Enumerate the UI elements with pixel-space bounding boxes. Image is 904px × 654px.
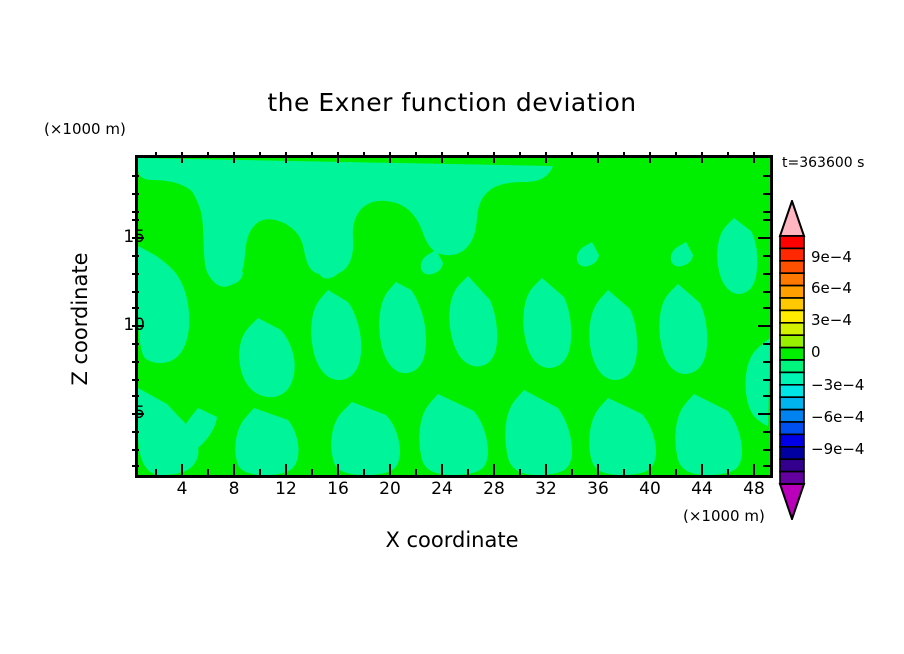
x-tick-label: 12 <box>275 479 297 499</box>
x-tick-label: 36 <box>587 479 609 499</box>
y-minor-tick-right <box>763 343 770 345</box>
y-minor-tick <box>132 449 139 451</box>
x-tick-label: 48 <box>743 479 765 499</box>
y-minor-tick-right <box>763 211 770 213</box>
colorbar-tick-label: 9e−4 <box>811 248 852 266</box>
x-minor-tick-top <box>259 152 261 158</box>
colorbar-band <box>780 298 804 310</box>
y-minor-tick-right <box>763 175 770 177</box>
colorbar-band <box>780 410 804 422</box>
x-minor-tick <box>519 469 521 475</box>
contour-plot-figure: the Exner function deviation (×1000 m) (… <box>0 0 904 654</box>
x-tick-label: 8 <box>229 479 240 499</box>
x-major-tick <box>233 464 235 475</box>
x-major-tick <box>285 464 287 475</box>
y-minor-tick-right <box>763 273 770 275</box>
x-minor-tick-top <box>415 152 417 158</box>
y-tick-label: 5 <box>134 403 145 423</box>
y-minor-tick <box>132 379 139 381</box>
x-major-tick <box>597 464 599 475</box>
x-tick-label: 32 <box>535 479 557 499</box>
y-minor-tick <box>132 361 139 363</box>
x-major-tick-top <box>181 152 183 163</box>
colorbar-band <box>780 459 804 471</box>
x-minor-tick-top <box>363 152 365 158</box>
x-axis-title: X coordinate <box>0 528 904 552</box>
x-major-tick <box>337 464 339 475</box>
x-major-tick <box>493 464 495 475</box>
x-major-tick <box>753 464 755 475</box>
colorbar-band <box>780 372 804 384</box>
y-minor-tick <box>132 219 139 221</box>
x-major-tick-top <box>649 152 651 163</box>
x-minor-tick <box>207 469 209 475</box>
x-axis-unit-label: (×1000 m) <box>683 507 765 525</box>
x-minor-tick <box>363 469 365 475</box>
x-tick-label: 24 <box>431 479 453 499</box>
page-title: the Exner function deviation <box>0 88 904 117</box>
colorbar-tick-label: 3e−4 <box>811 311 852 329</box>
colorbar-band <box>780 447 804 459</box>
x-minor-tick-top <box>571 152 573 158</box>
colorbar-band <box>780 323 804 335</box>
y-minor-tick-right <box>763 219 770 221</box>
x-minor-tick-top <box>155 152 157 158</box>
x-minor-tick <box>155 469 157 475</box>
contour-field <box>138 158 770 475</box>
x-major-tick-top <box>441 152 443 163</box>
x-minor-tick-top <box>519 152 521 158</box>
y-minor-tick <box>132 465 139 467</box>
x-major-tick <box>701 464 703 475</box>
x-tick-label: 28 <box>483 479 505 499</box>
colorbar-band <box>780 286 804 298</box>
x-minor-tick-top <box>467 152 469 158</box>
y-minor-tick <box>132 307 139 309</box>
plot-area <box>135 155 773 478</box>
x-minor-tick <box>311 469 313 475</box>
colorbar-tick-label: 6e−4 <box>811 279 852 297</box>
x-major-tick-top <box>597 152 599 163</box>
y-minor-tick-right <box>763 255 770 257</box>
y-major-tick-right <box>758 325 770 327</box>
x-minor-tick <box>675 469 677 475</box>
x-major-tick-top <box>545 152 547 163</box>
colorbar-band <box>780 236 804 248</box>
y-minor-tick <box>132 343 139 345</box>
colorbar-band <box>780 261 804 273</box>
colorbar-band <box>780 348 804 360</box>
colorbar-band <box>780 248 804 260</box>
x-major-tick-top <box>337 152 339 163</box>
x-tick-label: 40 <box>639 479 661 499</box>
colorbar-tick-label: 0 <box>811 343 821 361</box>
x-major-tick-top <box>233 152 235 163</box>
y-tick-label: 10 <box>123 315 145 335</box>
x-major-tick <box>389 464 391 475</box>
x-major-tick-top <box>753 152 755 163</box>
colorbar-band <box>780 434 804 446</box>
colorbar-tick-label: −6e−4 <box>811 408 864 426</box>
y-minor-tick <box>132 211 139 213</box>
colorbar <box>778 200 806 520</box>
x-minor-tick <box>571 469 573 475</box>
y-minor-tick-right <box>763 193 770 195</box>
y-tick-label: 15 <box>123 227 145 247</box>
colorbar-band <box>780 385 804 397</box>
x-major-tick-top <box>493 152 495 163</box>
colorbar-band <box>780 335 804 347</box>
x-tick-label: 4 <box>177 479 188 499</box>
y-minor-tick-right <box>763 379 770 381</box>
x-minor-tick-top <box>675 152 677 158</box>
x-tick-label: 20 <box>379 479 401 499</box>
y-major-tick-right <box>758 413 770 415</box>
y-axis-unit-label: (×1000 m) <box>44 120 126 138</box>
colorbar-over-arrow <box>780 201 804 236</box>
y-minor-tick <box>132 273 139 275</box>
colorbar-band <box>780 310 804 322</box>
x-major-tick <box>545 464 547 475</box>
x-major-tick-top <box>389 152 391 163</box>
x-major-tick <box>441 464 443 475</box>
colorbar-tick-label: −3e−4 <box>811 376 864 394</box>
x-minor-tick <box>623 469 625 475</box>
y-minor-tick-right <box>763 307 770 309</box>
x-minor-tick <box>467 469 469 475</box>
y-minor-tick <box>132 255 139 257</box>
y-minor-tick <box>132 291 139 293</box>
y-axis-title: Z coordinate <box>68 199 92 439</box>
x-minor-tick-top <box>207 152 209 158</box>
y-minor-tick-right <box>763 395 770 397</box>
x-tick-label: 44 <box>691 479 713 499</box>
x-major-tick-top <box>285 152 287 163</box>
y-minor-tick-right <box>763 465 770 467</box>
colorbar-band <box>780 360 804 372</box>
x-tick-label: 16 <box>327 479 349 499</box>
y-minor-tick <box>132 431 139 433</box>
x-minor-tick-top <box>623 152 625 158</box>
x-major-tick-top <box>701 152 703 163</box>
x-minor-tick <box>415 469 417 475</box>
x-minor-tick <box>259 469 261 475</box>
colorbar-band <box>780 472 804 484</box>
y-minor-tick-right <box>763 291 770 293</box>
y-minor-tick <box>132 193 139 195</box>
x-minor-tick-top <box>727 152 729 158</box>
x-minor-tick-top <box>311 152 313 158</box>
x-major-tick <box>181 464 183 475</box>
colorbar-band <box>780 397 804 409</box>
y-minor-tick-right <box>763 361 770 363</box>
y-minor-tick-right <box>763 431 770 433</box>
y-minor-tick <box>132 395 139 397</box>
x-minor-tick <box>727 469 729 475</box>
colorbar-tick-label: −9e−4 <box>811 440 864 458</box>
colorbar-band <box>780 422 804 434</box>
y-minor-tick-right <box>763 449 770 451</box>
colorbar-band <box>780 273 804 285</box>
colorbar-under-arrow <box>780 484 804 519</box>
y-major-tick-right <box>758 237 770 239</box>
x-major-tick <box>649 464 651 475</box>
time-stamp-label: t=363600 s <box>782 155 864 171</box>
y-minor-tick <box>132 175 139 177</box>
